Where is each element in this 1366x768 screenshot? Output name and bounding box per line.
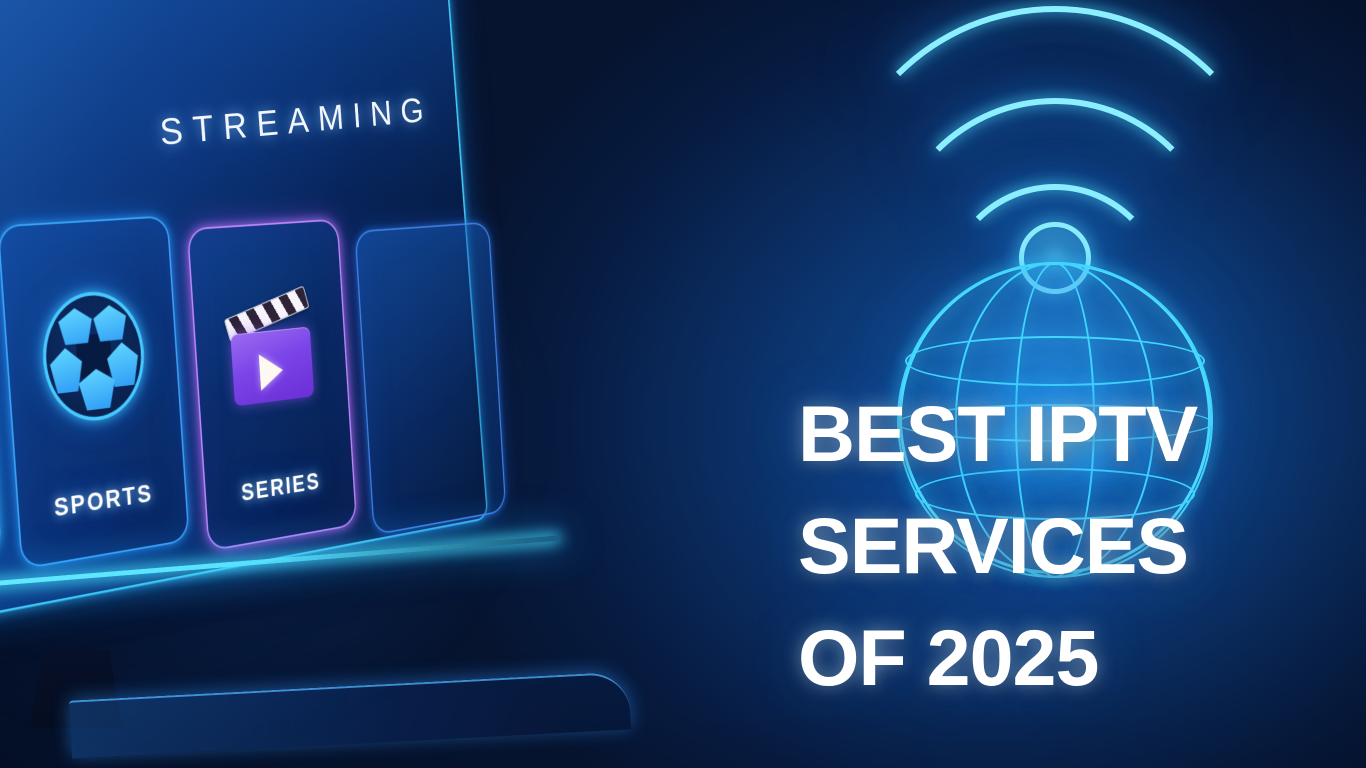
tile-label-next [373,477,503,499]
clapperboard-play-icon [224,290,320,408]
headline: BEST IPTV SERVICES OF 2025 [798,378,1358,714]
sports-icon-wrap [4,283,180,438]
tile-sports[interactable]: SPORTS [0,215,190,569]
banner-canvas: STREAMING MOVIES [0,0,1366,768]
tile-series[interactable]: SERIES [187,219,357,552]
headline-line-1: BEST IPTV [798,378,1358,490]
tile-label-series: SERIES [205,463,353,513]
play-triangle-icon [259,352,284,391]
headline-line-3: OF 2025 [798,602,1358,714]
tile-next-partial[interactable] [354,222,506,536]
soccer-ball-icon [39,288,148,427]
headline-line-2: SERVICES [798,490,1358,602]
television-illustration: STREAMING MOVIES [0,0,710,680]
series-icon-wrap [193,283,349,429]
tile-label-sports: SPORTS [18,475,186,529]
